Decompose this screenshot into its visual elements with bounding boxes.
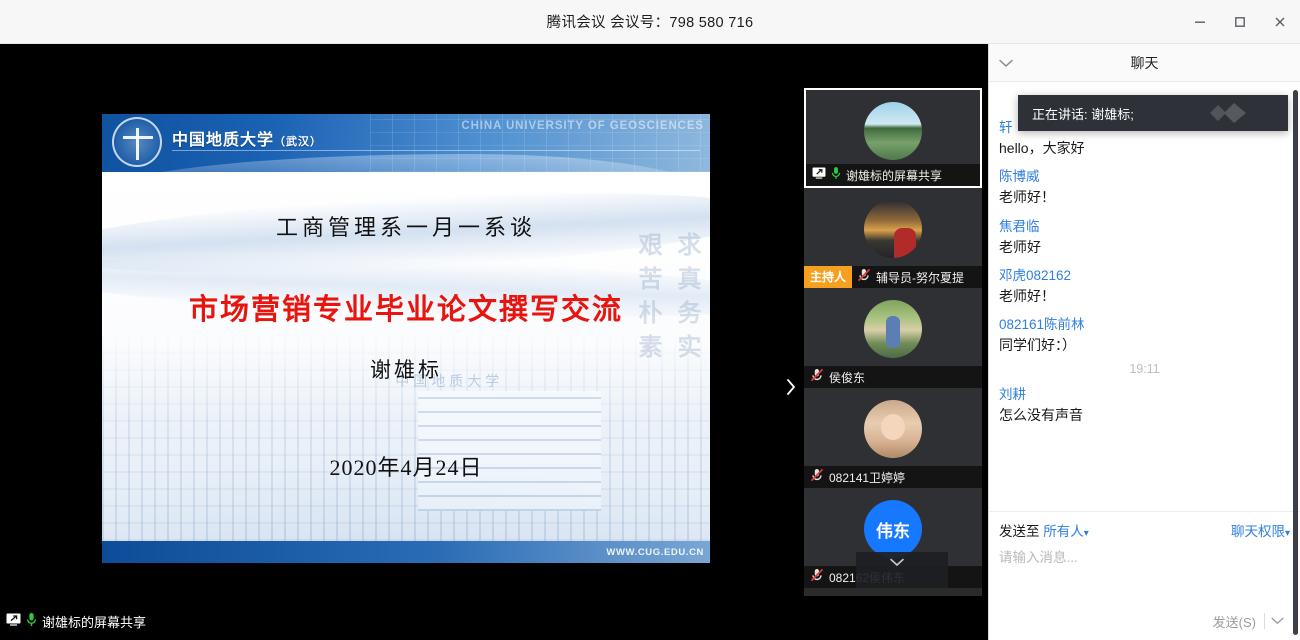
participant-name: 082141卫婷婷 (829, 469, 905, 486)
chat-message: 老师好！ (999, 286, 1290, 306)
window-title: 腾讯会议 会议号：798 580 716 (547, 11, 754, 32)
slide-footer: WWW.CUG.EDU.CN (102, 541, 710, 563)
participant-bar: 谢雄标的屏幕共享 (806, 164, 980, 186)
window-controls (1180, 0, 1300, 44)
title-bar: 腾讯会议 会议号：798 580 716 (0, 0, 1300, 44)
participant-name: 谢雄标的屏幕共享 (846, 167, 942, 184)
university-name-main: 中国地质大学 (172, 132, 274, 149)
university-name-en: CHINA UNIVERSITY OF GEOSCIENCES (461, 120, 704, 132)
participant-name: 侯俊东 (829, 369, 865, 386)
minimize-icon[interactable] (1180, 0, 1220, 44)
chat-permission-button[interactable]: 聊天权限▾ (1231, 520, 1290, 540)
participant-tile[interactable]: 侯俊东 (804, 288, 982, 388)
send-to-selector[interactable]: 发送至 所有人▾ (999, 520, 1089, 540)
participant-tile[interactable]: 伟东 082162侯伟东 (804, 488, 982, 588)
chat-timestamp: 19:11 (999, 362, 1290, 376)
calligraphy-decoration: 艰苦朴素 求真务实 (618, 232, 704, 432)
slide-date: 2020年4月24日 (102, 450, 710, 482)
chat-sender: 邓虎082162 (999, 264, 1290, 284)
chat-header: 聊天 (989, 44, 1300, 82)
participant-tile[interactable]: 主持人 辅导员-努尔夏提 (804, 188, 982, 288)
screen-share-status: 谢雄标的屏幕共享 (6, 610, 146, 632)
meeting-window: 腾讯会议 会议号：798 580 716 中国地质大学（武汉） CHI (0, 0, 1300, 640)
avatar (864, 200, 922, 258)
tencent-meeting-mark-icon (1208, 101, 1252, 125)
chat-message: 同学们好：） (999, 335, 1290, 355)
chat-sender: 刘耕 (999, 383, 1290, 403)
chat-message: hello，大家好 (999, 138, 1290, 158)
chat-sender: 陈博威 (999, 165, 1290, 185)
cug-seal-icon (112, 117, 162, 167)
chat-message: 老师好 (999, 237, 1290, 257)
chevron-down-icon[interactable] (999, 44, 1013, 82)
screen-share-label: 谢雄标的屏幕共享 (42, 612, 146, 631)
calligraphy-line-2: 求真务实 (669, 232, 704, 432)
send-to-label: 发送至 (999, 524, 1040, 539)
screen-share-icon (812, 166, 826, 184)
chevron-down-icon[interactable] (890, 554, 904, 572)
send-button[interactable]: 发送(S) (1205, 612, 1264, 631)
speaking-toast-text: 正在讲话: 谢雄标; (1032, 104, 1134, 123)
chevron-down-icon: ▾ (1084, 528, 1089, 539)
send-to-value: 所有人 (1043, 524, 1084, 539)
calligraphy-line-1: 艰苦朴素 (630, 232, 665, 432)
university-name-suffix: （武汉） (274, 136, 322, 148)
shared-slide: 中国地质大学（武汉） CHINA UNIVERSITY OF GEOSCIENC… (102, 114, 710, 563)
send-controls: 发送(S) (999, 608, 1290, 634)
chat-message-list[interactable]: 19:2 轩 hello，大家好 陈博威 老师好！ 焦君临 老师好 邓虎0821… (989, 82, 1300, 511)
participant-name: 辅导员-努尔夏提 (876, 269, 964, 286)
participant-bar: 082141卫婷婷 (804, 466, 982, 488)
avatar (864, 102, 922, 160)
slide-title: 市场营销专业毕业论文撰写交流 (102, 286, 710, 328)
slide-author: 谢雄标 (102, 354, 710, 384)
participant-bar: 侯俊东 (804, 366, 982, 388)
mic-off-icon (810, 568, 824, 587)
chat-sender: 082161陈前林 (999, 313, 1290, 333)
slide-subtitle: 工商管理系一月一系谈 (102, 210, 710, 242)
mic-off-icon (810, 368, 824, 387)
avatar (864, 300, 922, 358)
chat-panel: 聊天 19:2 轩 hello，大家好 陈博威 老师好！ 焦君临 老师好 邓虎0… (988, 44, 1300, 640)
header-divider (172, 150, 700, 151)
close-icon[interactable] (1260, 0, 1300, 44)
chat-permission-label: 聊天权限 (1231, 524, 1285, 539)
mic-on-icon (26, 612, 37, 630)
maximize-icon[interactable] (1220, 0, 1260, 44)
participant-filmstrip[interactable]: 谢雄标的屏幕共享 主持人 辅导员-努尔夏提 侯俊东 (804, 88, 982, 596)
chevron-down-icon[interactable] (1265, 612, 1290, 630)
chat-message: 怎么没有声音 (999, 405, 1290, 425)
chevron-right-icon[interactable] (782, 374, 800, 400)
message-input[interactable]: 请输入消息... (999, 546, 1290, 608)
avatar: 伟东 (864, 500, 922, 558)
slide-body: 中国地质大学 艰苦朴素 求真务实 工商管理系一月一系谈 市场营销专业毕业论文撰写… (102, 172, 710, 541)
chat-composer: 发送至 所有人▾ 聊天权限▾ 请输入消息... 发送(S) (989, 511, 1300, 640)
participant-tile[interactable]: 谢雄标的屏幕共享 (804, 88, 982, 188)
speaking-toast: 正在讲话: 谢雄标; (1018, 95, 1288, 131)
screen-share-icon (6, 613, 21, 629)
chat-title: 聊天 (1131, 53, 1159, 73)
mic-on-icon (831, 166, 841, 185)
participant-tile[interactable]: 082141卫婷婷 (804, 388, 982, 488)
chat-message: 老师好！ (999, 187, 1290, 207)
mic-off-icon (857, 268, 871, 287)
university-name-cn: 中国地质大学（武汉） (172, 126, 322, 150)
chat-sender: 焦君临 (999, 215, 1290, 235)
mic-off-icon (810, 468, 824, 487)
slide-header: 中国地质大学（武汉） CHINA UNIVERSITY OF GEOSCIENC… (102, 114, 710, 172)
chat-scrollbar[interactable] (1293, 90, 1298, 635)
avatar (864, 400, 922, 458)
participant-bar: 主持人 辅导员-努尔夏提 (804, 266, 982, 288)
slide-footer-url: WWW.CUG.EDU.CN (606, 547, 704, 558)
host-badge: 主持人 (804, 266, 852, 288)
chevron-down-icon: ▾ (1285, 528, 1290, 539)
